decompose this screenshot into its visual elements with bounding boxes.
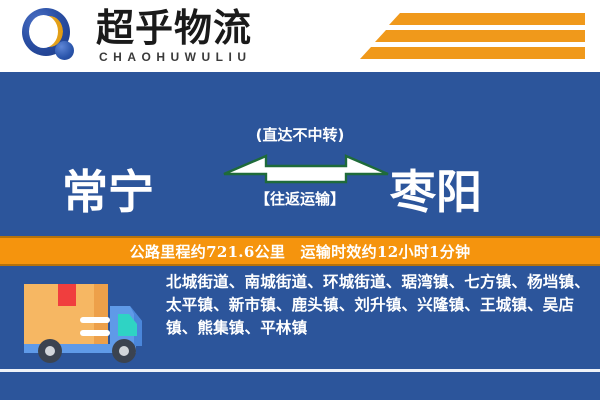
chaohu-circle-logo-icon: [22, 8, 80, 66]
round-trip-note: 【往返运输】: [0, 188, 600, 209]
header-stripe-1: [389, 13, 585, 25]
banner-header: 超乎物流 CHAOHUWULIU: [0, 0, 600, 72]
delivery-truck-icon: [18, 274, 150, 366]
route-section: 常宁 枣阳 (直达不中转) 【往返运输】: [0, 72, 600, 236]
brand-name-pinyin: CHAOHUWULIU: [99, 50, 252, 64]
header-stripe-3: [360, 47, 585, 59]
logistics-route-banner: 超乎物流 CHAOHUWULIU 常宁 枣阳 (直达不中转) 【往返运输】 公路…: [0, 0, 600, 400]
coverage-section: 北城街道、南城街道、环城街道、琚湾镇、七方镇、杨垱镇、太平镇、新市镇、鹿头镇、刘…: [0, 266, 600, 400]
bidirectional-arrow-icon: [222, 148, 390, 184]
logo-crescent-cutout: [29, 15, 58, 48]
logo-accent-dot: [55, 41, 74, 60]
distance-duration-text: 公路里程约721.6公里 运输时效约12小时1分钟: [130, 241, 471, 262]
direct-route-note: (直达不中转): [0, 124, 600, 145]
route-info-bar: 公路里程约721.6公里 运输时效约12小时1分钟: [0, 236, 600, 266]
brand-name-chinese: 超乎物流: [96, 6, 252, 50]
header-stripe-2: [375, 30, 585, 42]
coverage-area-list: 北城街道、南城街道、环城街道、琚湾镇、七方镇、杨垱镇、太平镇、新市镇、鹿头镇、刘…: [166, 270, 590, 339]
road-divider-line: [0, 369, 600, 372]
